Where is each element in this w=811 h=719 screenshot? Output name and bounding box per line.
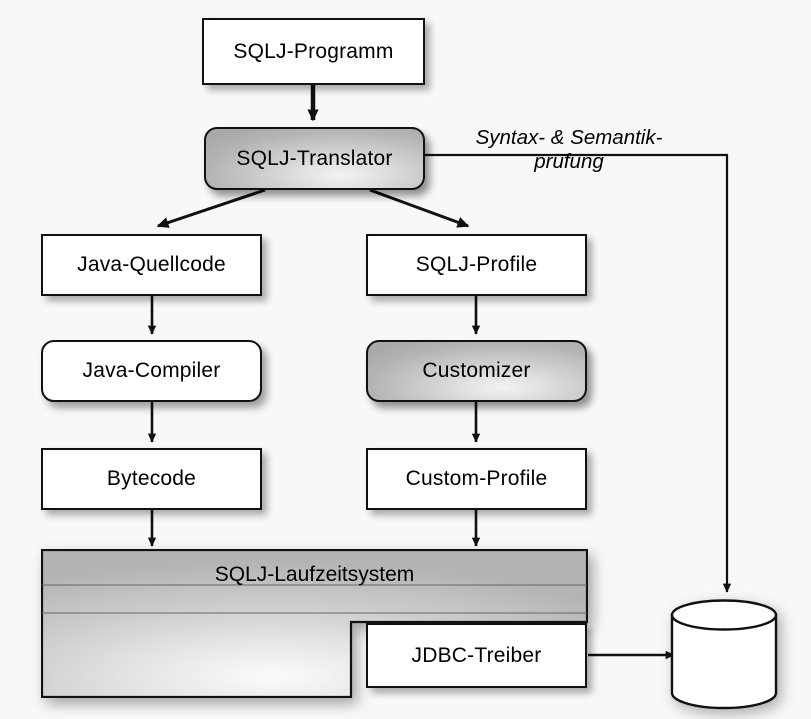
node-custom-profile[interactable]: Custom-Profile <box>366 448 587 510</box>
node-sqlj-translator-label: SQLJ-Translator <box>236 147 392 171</box>
node-customizer[interactable]: Customizer <box>366 340 587 402</box>
node-sqlj-programm-label: SQLJ-Programm <box>233 40 393 64</box>
node-sqlj-profile[interactable]: SQLJ-Profile <box>366 234 587 296</box>
node-java-quellcode[interactable]: Java-Quellcode <box>41 234 262 296</box>
annotation-syntax-semantik-pruefung: Syntax- & Semantik- prüfung <box>452 126 686 174</box>
node-sqlj-profile-label: SQLJ-Profile <box>416 253 537 277</box>
node-customizer-label: Customizer <box>422 359 530 383</box>
node-java-quellcode-label: Java-Quellcode <box>77 253 226 277</box>
node-jdbc-treiber-label: JDBC-Treiber <box>412 644 542 668</box>
node-sqlj-translator[interactable]: SQLJ-Translator <box>204 127 425 190</box>
edge-translator-to-quellcode <box>158 190 265 226</box>
edge-translator-to-profile <box>370 190 468 226</box>
database-cylinder-icon[interactable] <box>668 598 780 710</box>
node-custom-profile-label: Custom-Profile <box>406 467 548 491</box>
node-bytecode[interactable]: Bytecode <box>41 448 262 510</box>
node-sqlj-programm[interactable]: SQLJ-Programm <box>202 18 425 85</box>
node-jdbc-treiber[interactable]: JDBC-Treiber <box>366 623 587 688</box>
node-java-compiler-label: Java-Compiler <box>83 359 221 383</box>
sqlj-architecture-diagram: SQLJ-Programm SQLJ-Translator Syntax- & … <box>0 0 811 719</box>
node-bytecode-label: Bytecode <box>107 467 196 491</box>
node-java-compiler[interactable]: Java-Compiler <box>41 340 262 402</box>
